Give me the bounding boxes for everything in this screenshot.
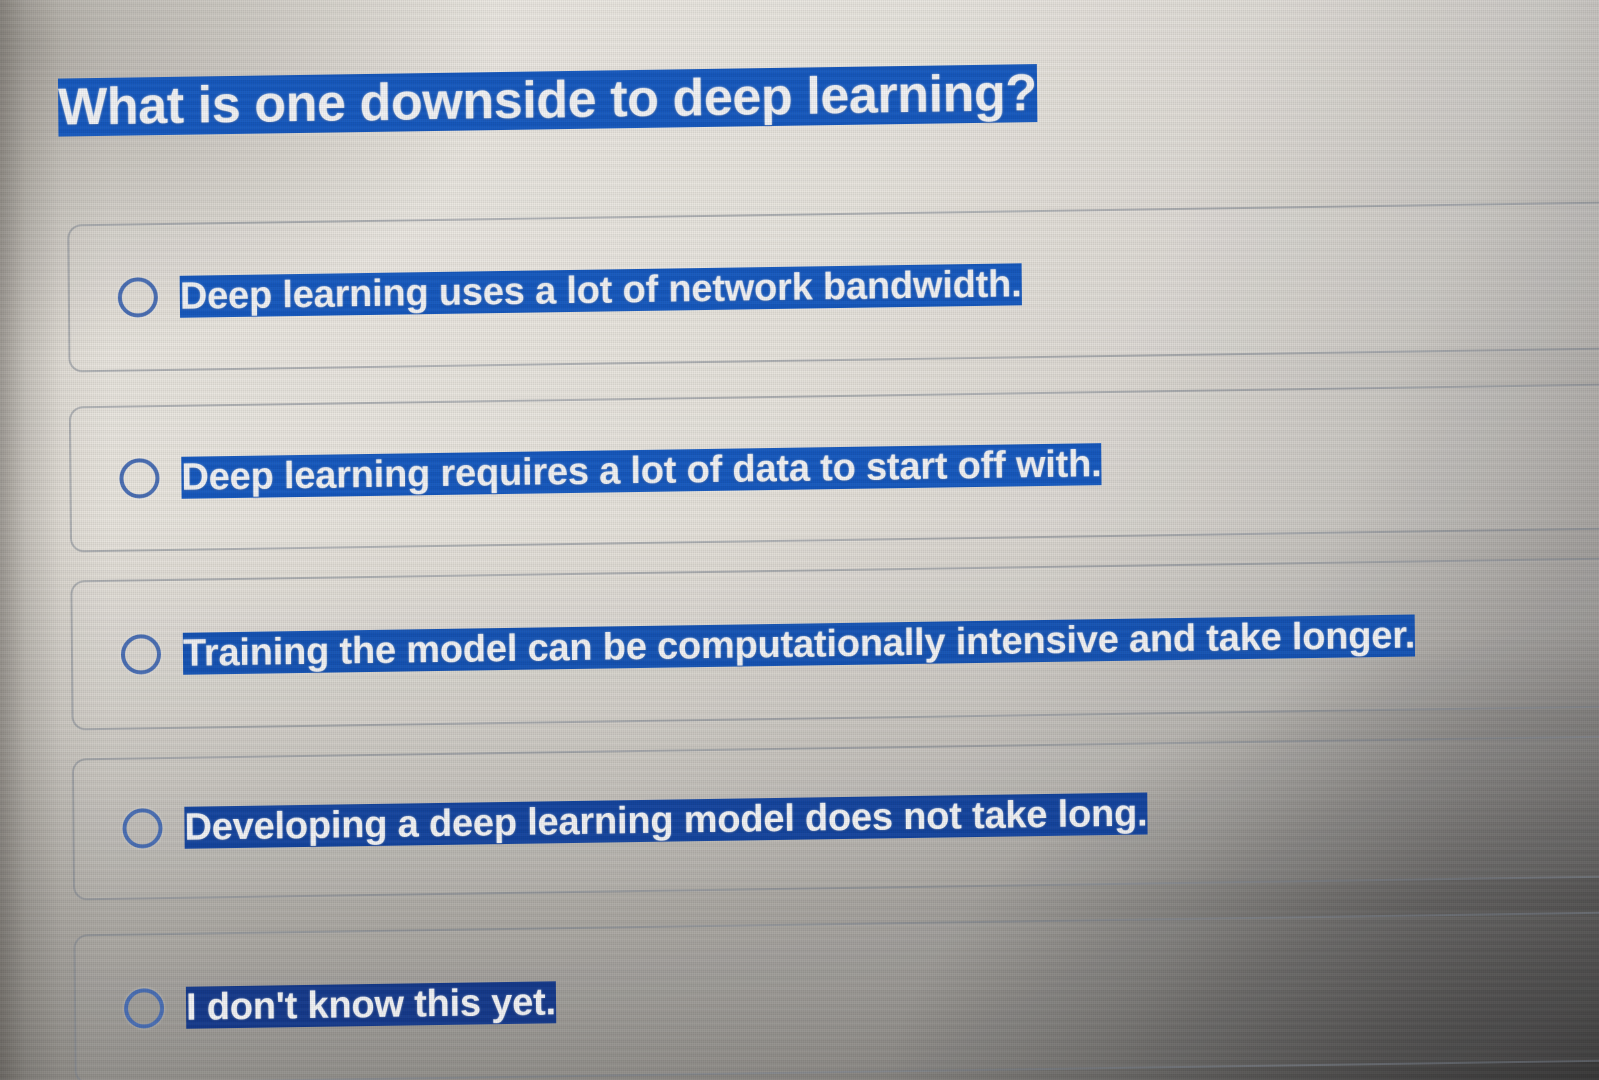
radio-button-icon[interactable] bbox=[122, 808, 162, 849]
option-label-b-text: Deep learning requires a lot of data to … bbox=[181, 443, 1101, 499]
option-card-b[interactable]: Deep learning requires a lot of data to … bbox=[69, 382, 1599, 552]
option-card-a[interactable]: Deep learning uses a lot of network band… bbox=[67, 200, 1599, 372]
option-card-d[interactable]: Developing a deep learning model does no… bbox=[72, 734, 1599, 900]
option-label-c-text: Training the model can be computationall… bbox=[183, 615, 1415, 675]
option-label-d-text: Developing a deep learning model does no… bbox=[184, 792, 1147, 848]
option-label-a-text: Deep learning uses a lot of network band… bbox=[180, 263, 1022, 317]
question-row: What is one downside to deep learning? bbox=[58, 62, 1037, 139]
radio-button-icon[interactable] bbox=[124, 988, 164, 1029]
option-card-e[interactable]: I don't know this yet. bbox=[73, 910, 1599, 1080]
radio-button-icon[interactable] bbox=[119, 458, 159, 499]
option-label-e: I don't know this yet. bbox=[186, 977, 556, 1032]
option-inner-e: I don't know this yet. bbox=[124, 977, 556, 1033]
option-card-c[interactable]: Training the model can be computationall… bbox=[70, 556, 1599, 730]
radio-button-icon[interactable] bbox=[121, 634, 161, 675]
question-title-text: What is one downside to deep learning? bbox=[58, 64, 1037, 137]
option-label-d: Developing a deep learning model does no… bbox=[184, 788, 1147, 852]
option-inner-d: Developing a deep learning model does no… bbox=[122, 788, 1147, 853]
option-inner-b: Deep learning requires a lot of data to … bbox=[119, 439, 1101, 504]
option-inner-c: Training the model can be computationall… bbox=[121, 611, 1416, 680]
option-label-c: Training the model can be computationall… bbox=[183, 611, 1416, 679]
option-label-a: Deep learning uses a lot of network band… bbox=[180, 259, 1022, 321]
radio-button-icon[interactable] bbox=[118, 277, 158, 318]
option-label-b: Deep learning requires a lot of data to … bbox=[181, 439, 1101, 503]
quiz-content: What is one downside to deep learning? D… bbox=[0, 0, 1599, 1080]
option-inner-a: Deep learning uses a lot of network band… bbox=[118, 259, 1022, 322]
option-label-e-text: I don't know this yet. bbox=[186, 981, 556, 1028]
question-title: What is one downside to deep learning? bbox=[58, 62, 1037, 139]
quiz-screen: What is one downside to deep learning? D… bbox=[0, 0, 1599, 1080]
